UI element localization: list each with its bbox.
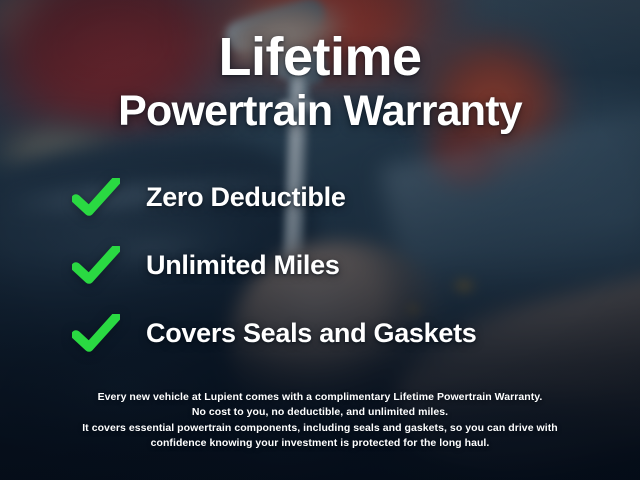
benefit-label: Unlimited Miles xyxy=(146,250,340,281)
list-item: Zero Deductible xyxy=(72,176,477,218)
disclaimer-text: Every new vehicle at Lupient comes with … xyxy=(30,390,610,451)
page-title: Lifetime Powertrain Warranty xyxy=(0,30,640,133)
list-item: Covers Seals and Gaskets xyxy=(72,312,477,354)
list-item: Unlimited Miles xyxy=(72,244,477,286)
banner-content: Lifetime Powertrain Warranty Zero Deduct… xyxy=(0,0,640,480)
check-icon xyxy=(72,244,146,286)
headline-line-2: Powertrain Warranty xyxy=(0,90,640,133)
benefit-label: Zero Deductible xyxy=(146,182,346,213)
disclaimer-line-3: It covers essential powertrain component… xyxy=(30,421,610,436)
check-icon xyxy=(72,176,146,218)
promo-banner: Lifetime Powertrain Warranty Zero Deduct… xyxy=(0,0,640,480)
benefit-label: Covers Seals and Gaskets xyxy=(146,318,477,349)
disclaimer-line-1: Every new vehicle at Lupient comes with … xyxy=(30,390,610,405)
benefits-list: Zero Deductible Unlimited Miles Covers S… xyxy=(72,176,477,354)
headline-line-1: Lifetime xyxy=(0,30,640,84)
disclaimer-line-2: No cost to you, no deductible, and unlim… xyxy=(30,405,610,420)
disclaimer-line-4: confidence knowing your investment is pr… xyxy=(30,436,610,451)
check-icon xyxy=(72,312,146,354)
